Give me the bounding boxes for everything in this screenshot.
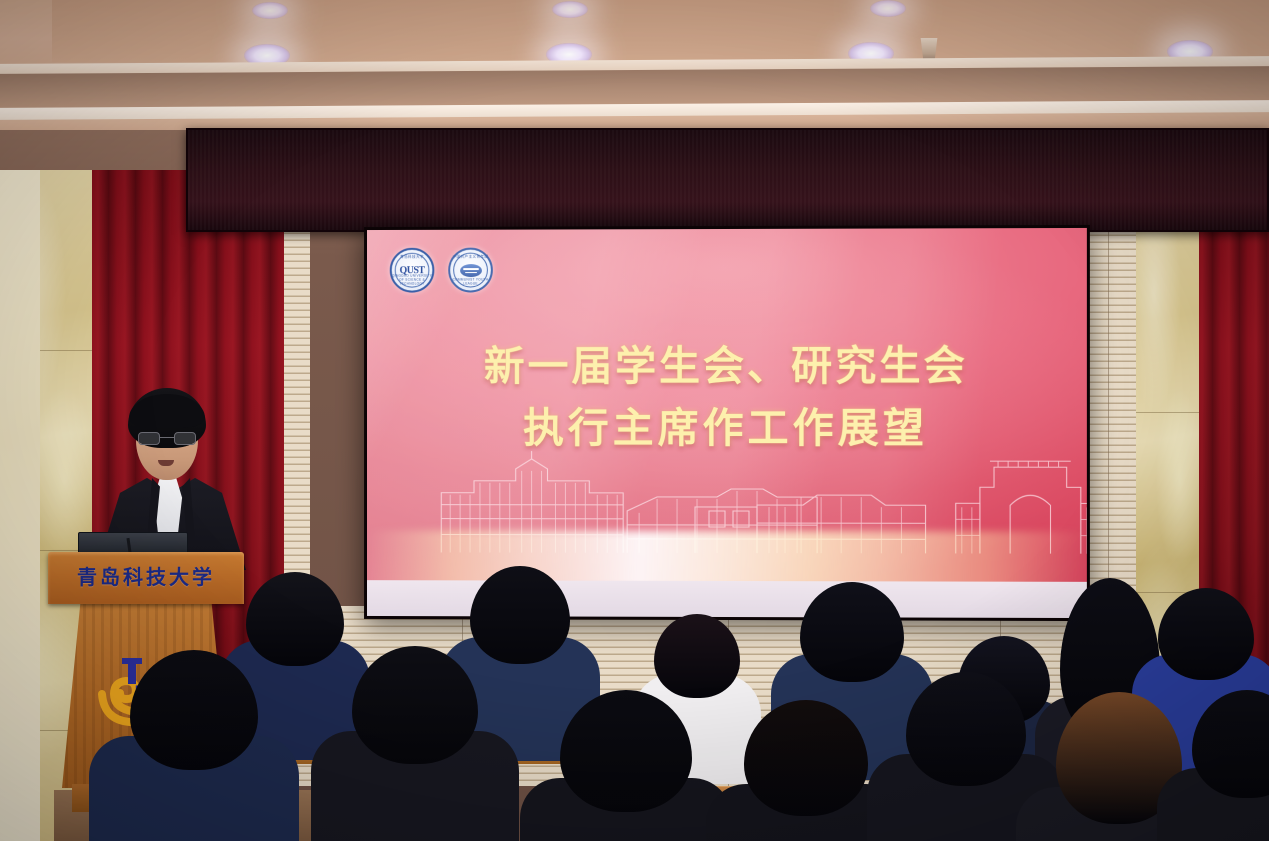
seal-b-arc-top-text: 中国共产主义青年团 bbox=[450, 255, 491, 260]
podium-nameplate: 青岛科技大学 bbox=[48, 552, 244, 604]
seal-b-arc-bottom-text: COMMUNIST YOUTH LEAGUE bbox=[450, 278, 491, 286]
downlight-icon bbox=[252, 2, 288, 19]
slide-title-line-1: 新一届学生会、研究生会 bbox=[367, 335, 1087, 398]
slide-title-line-2: 执行主席作工作展望 bbox=[367, 397, 1087, 460]
qust-university-seal-icon: 青岛科技大学 QUST QINGDAO UNIVERSITY OF SCIENC… bbox=[390, 248, 435, 293]
audience-member-head bbox=[1158, 588, 1254, 680]
student-union-seal-icon: 中国共产主义青年团 COMMUNIST YOUTH LEAGUE bbox=[448, 248, 493, 293]
ceiling-recess-panel bbox=[52, 0, 1269, 62]
slide-logo-row: 青岛科技大学 QUST QINGDAO UNIVERSITY OF SCIENC… bbox=[390, 248, 493, 293]
projection-screen[interactable]: 青岛科技大学 QUST QINGDAO UNIVERSITY OF SCIENC… bbox=[364, 225, 1090, 621]
downlight-icon bbox=[552, 1, 588, 18]
marble-panel-far-left bbox=[0, 170, 40, 841]
auditorium-presentation-scene: 青岛科技大学 QUST QINGDAO UNIVERSITY OF SCIENC… bbox=[0, 0, 1269, 841]
downlight-icon bbox=[870, 0, 906, 17]
seal-arc-bottom-text: QINGDAO UNIVERSITY OF SCIENCE & TECHNOLO… bbox=[392, 274, 433, 286]
audience-member-head bbox=[654, 614, 740, 698]
stage-valance-band bbox=[186, 128, 1269, 232]
seal-arc-top-text: 青岛科技大学 bbox=[392, 255, 433, 260]
audience-member-head bbox=[800, 582, 904, 682]
audience-member-head bbox=[246, 572, 344, 666]
eyeglasses-icon bbox=[138, 432, 196, 445]
presentation-slide: 青岛科技大学 QUST QINGDAO UNIVERSITY OF SCIENC… bbox=[367, 228, 1087, 618]
slide-title: 新一届学生会、研究生会 执行主席作工作展望 bbox=[367, 335, 1087, 460]
ceiling bbox=[0, 0, 1269, 138]
podium-nameplate-text: 青岛科技大学 bbox=[48, 561, 244, 590]
